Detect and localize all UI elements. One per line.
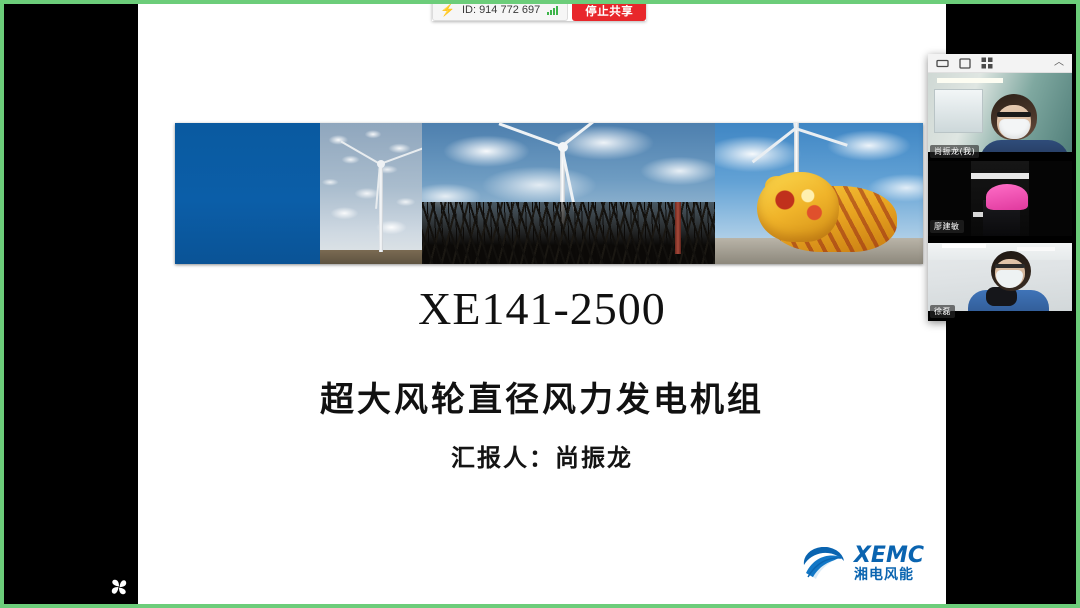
participant-video-panel: ︿ 尚振龙(我) 廖建敏 [928,54,1072,321]
sky-backdrop [320,123,422,264]
glasses-icon [997,112,1031,117]
glasses-icon [995,264,1025,268]
screen-root: XE141-2500 超大风轮直径风力发电机组 汇报人：尚振龙 XEMC 湘电风… [0,0,1080,608]
xemc-logo: XEMC 湘电风能 [802,545,924,582]
slide-subtitle: 超大风轮直径风力发电机组 [138,372,946,421]
participant-name-label: 徐磊 [930,305,955,318]
xemc-swoosh-logo-icon [802,547,846,581]
xemc-logo-text: XEMC 湘电风能 [854,545,924,582]
xemc-logo-en: XEMC [854,545,924,567]
minimize-view-icon[interactable] [936,58,949,68]
letterbox-bar [928,236,1072,243]
participant-name-label: 廖建敏 [930,220,964,233]
banner-cell-blue-panel [175,123,320,264]
ceiling-light [942,244,985,248]
lion-head [757,172,839,242]
participant-name-label: 尚振龙(我) [930,145,979,158]
banner-cell-photo-lion-dance [715,123,923,264]
page-title: XE141-2500 [138,282,946,335]
ceiling-light [971,173,1029,179]
speaker-view-icon[interactable] [959,58,971,69]
window [934,89,983,133]
chevron-up-icon[interactable]: ︿ [1054,58,1064,68]
participant-tile[interactable]: 廖建敏 [928,161,1072,236]
pink-helmet [986,184,1028,210]
shared-presentation-slide: XE141-2500 超大风轮直径风力发电机组 汇报人：尚振龙 XEMC 湘电风… [138,4,946,604]
stop-share-button[interactable]: 停止共享 [572,0,646,21]
participant-tile[interactable]: 尚振龙(我) [928,73,1072,161]
meeting-id-chip[interactable]: ⚡ ID: 914 772 697 [432,0,568,21]
signal-strength-icon [547,6,558,15]
meeting-info-bar: ⚡ ID: 914 772 697 停止共享 [432,0,646,21]
slide-banner-strip [175,123,923,264]
gallery-view-icon[interactable] [981,57,993,69]
video-panel-toolbar: ︿ [928,54,1072,73]
reed-field [422,202,715,264]
face-mask [999,119,1030,139]
banner-cell-photo-turbine-reeds [422,123,715,264]
turbine-hub [558,142,568,152]
ground-strip [320,250,422,264]
banner-cell-photo-turbine-mackerel-sky [320,123,422,264]
xemc-logo-cn: 湘电风能 [854,568,924,582]
ceiling-light [1017,247,1054,251]
meeting-id-label: ID: 914 772 697 [462,4,540,16]
red-post [675,202,681,254]
lightning-icon: ⚡ [440,4,455,16]
slide-presenter: 汇报人：尚振龙 [138,438,946,473]
wind-turbine-fan-icon[interactable] [108,576,130,598]
ceiling-light [937,78,1003,83]
participant-tile[interactable]: 徐磊 [928,236,1072,321]
